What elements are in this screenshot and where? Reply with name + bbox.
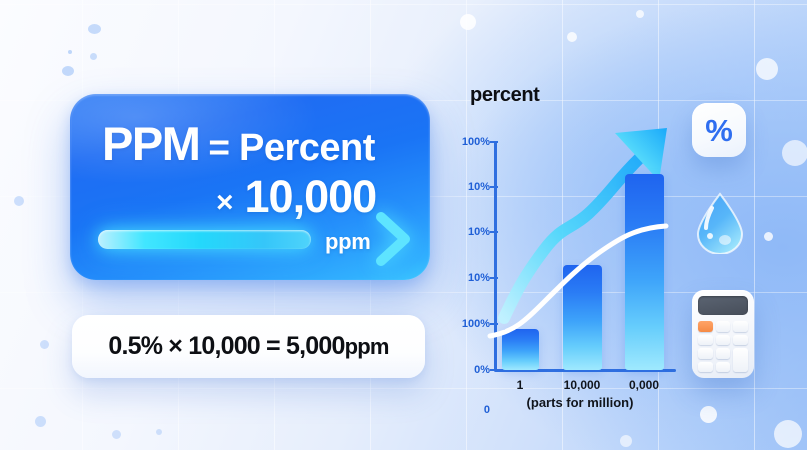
decorative-bubble	[620, 435, 632, 447]
example-calculation-card: 0.5% × 10,000 = 5,000ppm	[72, 315, 425, 378]
calculator-key	[716, 348, 731, 359]
x-tick-label: 0,000	[629, 378, 659, 392]
decorative-bubble	[782, 140, 807, 166]
percent-icon: %	[692, 103, 746, 157]
calculator-key	[716, 362, 731, 373]
formula-term-ppm: PPM	[102, 120, 199, 167]
decorative-bubble	[112, 430, 121, 439]
calculator-key	[698, 335, 713, 346]
formula-times-sign: ×	[216, 188, 234, 218]
decorative-bubble	[156, 429, 162, 435]
decorative-bubble	[62, 66, 74, 76]
decorative-bubble	[88, 24, 101, 34]
decorative-bubble	[68, 50, 72, 54]
calculator-key	[733, 335, 748, 346]
chevron-right-icon	[373, 211, 413, 267]
ppm-formula-card: PPM = Percent × 10,000 ppm	[70, 94, 430, 280]
y-tick-label: 100%	[462, 318, 490, 330]
decorative-bubble	[90, 53, 97, 60]
decorative-bubble	[35, 416, 46, 427]
decorative-bubble	[700, 406, 717, 423]
percent-glyph: %	[705, 115, 733, 146]
water-droplet-icon	[694, 192, 746, 254]
chart-plot-area	[496, 142, 674, 370]
decorative-bubble	[636, 10, 644, 18]
calculator-key	[698, 321, 713, 332]
trend-line	[496, 142, 674, 370]
infographic-canvas: PPM = Percent × 10,000 ppm 0.5% × 10,000…	[0, 0, 807, 450]
x-tick-label: 1	[517, 378, 524, 392]
ppm-progress-bar	[98, 230, 311, 249]
decorative-bubble	[764, 232, 773, 241]
calculator-key	[698, 362, 713, 373]
decorative-bubble	[14, 196, 24, 206]
calculator-key	[698, 348, 713, 359]
calculator-key	[716, 321, 731, 332]
calculator-display	[698, 296, 748, 315]
y-tick-label: 100%	[462, 136, 490, 148]
chart-y-axis-labels: 100% 10% 10% 10% 100% 0% 0	[452, 84, 490, 409]
calculator-key	[716, 335, 731, 346]
y-tick-label: 0	[484, 404, 490, 416]
example-formula-main: 0.5% × 10,000 = 5,000	[108, 332, 344, 360]
decorative-bubble	[567, 32, 577, 42]
calculator-key	[733, 348, 748, 372]
chart-x-axis-caption: (parts for million)	[527, 395, 634, 410]
formula-line-1: PPM = Percent	[102, 120, 375, 167]
formula-equals-sign: =	[208, 129, 230, 166]
formula-line-2: × 10,000	[216, 174, 376, 219]
calculator-keypad	[698, 321, 748, 372]
y-tick-label: 10%	[468, 226, 490, 238]
calculator-icon	[692, 290, 754, 378]
y-tick-label: 10%	[468, 272, 490, 284]
y-tick-label: 10%	[468, 181, 490, 193]
decorative-bubble	[756, 58, 778, 80]
formula-term-percent: Percent	[239, 129, 375, 167]
decorative-bubble	[774, 420, 802, 448]
calculator-key	[733, 321, 748, 332]
example-formula-text: 0.5% × 10,000 = 5,000ppm	[108, 332, 388, 361]
decorative-bubble	[460, 14, 476, 30]
x-tick-label: 10,000	[564, 378, 601, 392]
example-formula-unit: ppm	[345, 334, 389, 359]
decorative-bubble	[40, 340, 49, 349]
percent-to-ppm-chart: percent 100% 10% 10% 10% 100% 0% 0	[452, 84, 677, 409]
formula-multiplier: 10,000	[245, 174, 377, 219]
ppm-unit-label: ppm	[325, 229, 371, 255]
